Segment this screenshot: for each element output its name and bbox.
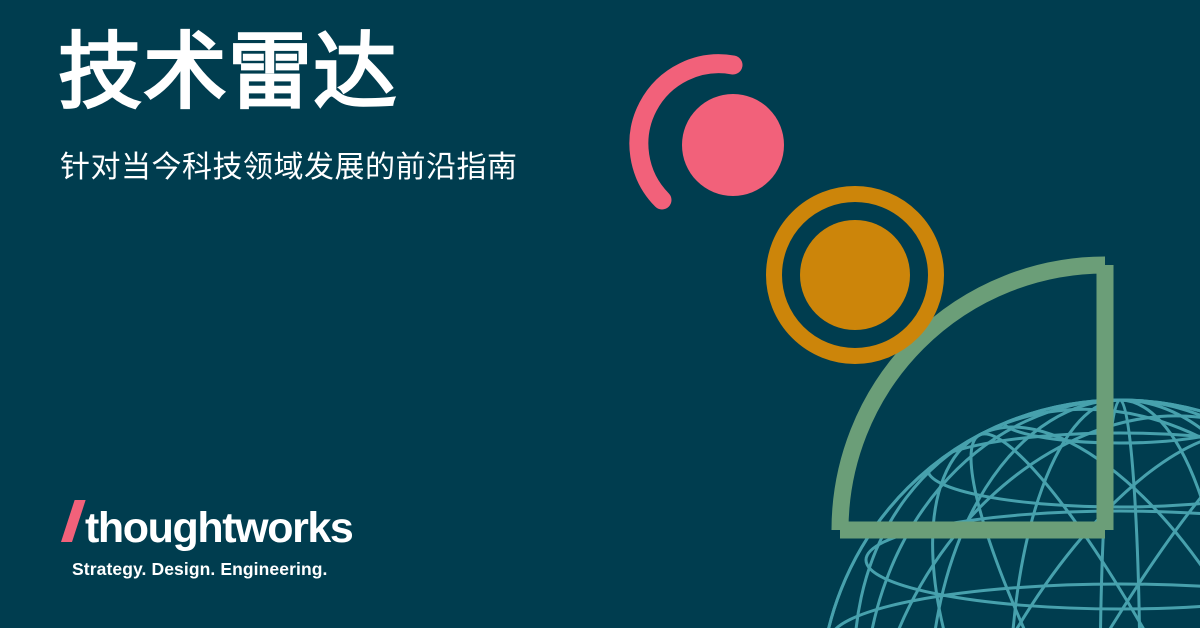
logo-wordmark: thoughtworks [58, 498, 352, 542]
slash-icon [58, 498, 84, 542]
orange-ring [774, 194, 936, 356]
orange-disc [800, 220, 910, 330]
pink-circle [682, 94, 784, 196]
page-title: 技术雷达 [58, 28, 678, 116]
logo-wordmark-text: thoughtworks [85, 506, 352, 550]
logo-tagline: Strategy. Design. Engineering. [72, 559, 352, 580]
thoughtworks-logo: thoughtworks Strategy. Design. Engineeri… [58, 498, 352, 580]
green-quadrant-outline [840, 265, 1105, 530]
page-subtitle: 针对当今科技领域发展的前沿指南 [60, 148, 678, 187]
tech-radar-poster: 技术雷达 针对当今科技领域发展的前沿指南 thoughtworks Strate… [0, 0, 1200, 628]
globe-wireframe [754, 315, 1200, 628]
headline-block: 技术雷达 针对当今科技领域发展的前沿指南 [58, 28, 678, 187]
